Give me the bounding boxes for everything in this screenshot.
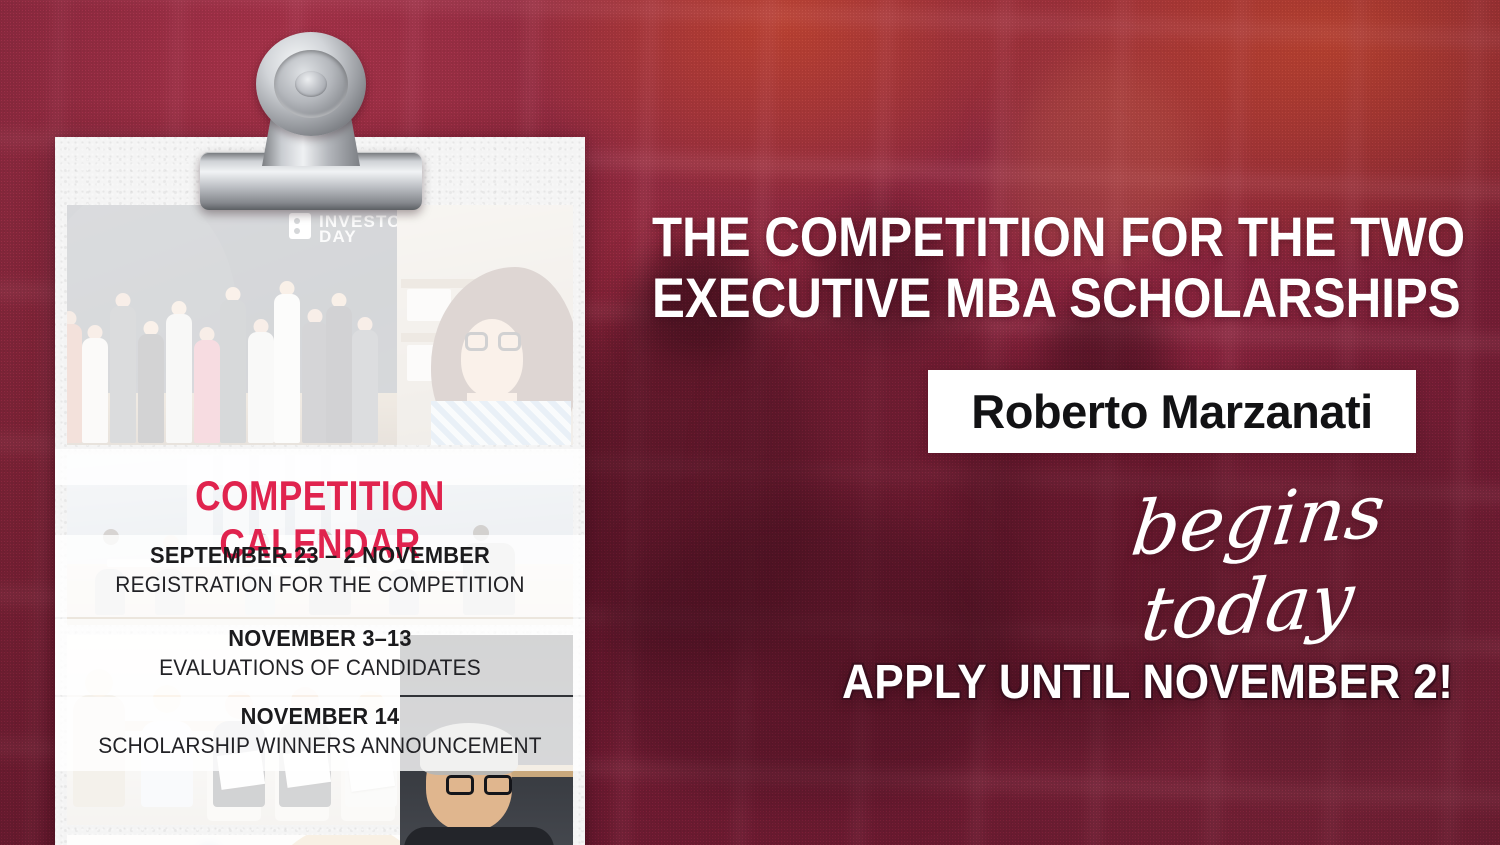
script-tagline: begins today [1065, 464, 1442, 664]
calendar-entry-date: NOVEMBER 14 [68, 703, 572, 730]
clip-pin [295, 71, 327, 97]
calendar-entry-description: REGISTRATION FOR THE COMPETITION [68, 572, 572, 598]
calendar-entry: NOVEMBER 3–13 EVALUATIONS OF CANDIDATES [55, 625, 585, 681]
calendar-entry: NOVEMBER 14 SCHOLARSHIP WINNERS ANNOUNCE… [55, 703, 585, 759]
participant-name: Roberto Marzanati [971, 384, 1373, 439]
cta-text: APPLY UNTIL NOVEMBER 2! [842, 655, 1394, 710]
headline-line-2: EXECUTIVE MBA SCHOLARSHIPS [652, 267, 1347, 328]
calendar-entry: SEPTEMBER 23 – 2 NOVEMBER REGISTRATION F… [55, 542, 585, 598]
calendar-entry-date: NOVEMBER 3–13 [68, 625, 572, 652]
name-banner: Roberto Marzanati [928, 370, 1416, 453]
headline-line-1: THE COMPETITION FOR THE TWO [652, 206, 1347, 267]
poster-canvas: INVESTOR DAY [0, 0, 1500, 845]
photo-fade-overlay [67, 205, 573, 445]
calendar-entry-description: SCHOLARSHIP WINNERS ANNOUNCEMENT [68, 733, 572, 759]
calendar-entry-description: EVALUATIONS OF CANDIDATES [68, 655, 572, 681]
eyeglasses-icon [446, 775, 512, 795]
page-title: THE COMPETITION FOR THE TWO EXECUTIVE MB… [652, 206, 1347, 328]
group-photo-investor-day: INVESTOR DAY [67, 205, 573, 445]
competition-calendar-card: INVESTOR DAY [55, 137, 585, 845]
bulldog-clip-icon [200, 28, 422, 188]
calendar-entry-date: SEPTEMBER 23 – 2 NOVEMBER [68, 542, 572, 569]
